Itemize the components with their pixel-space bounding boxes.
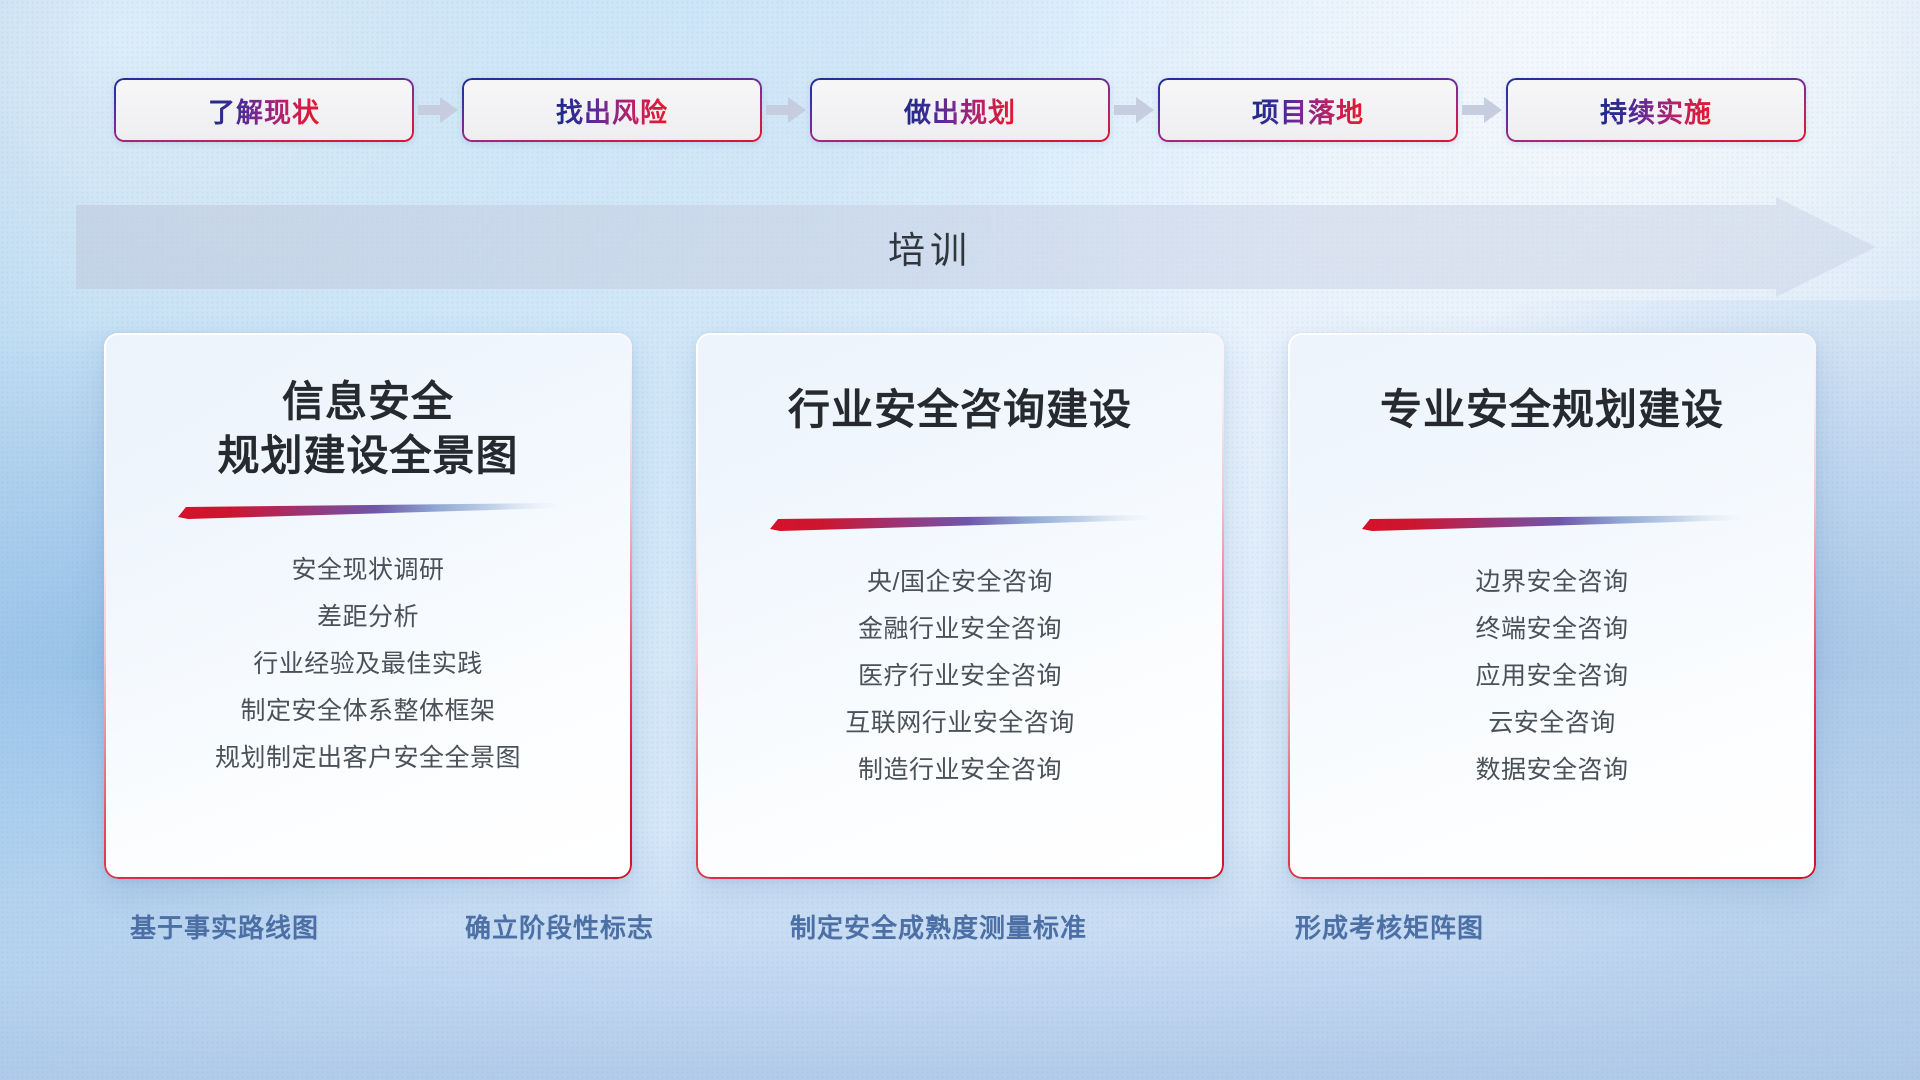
card-1-list: 安全现状调研 差距分析 行业经验及最佳实践 制定安全体系整体框架 规划制定出客户… bbox=[104, 547, 632, 782]
step-label-5: 持续实施 bbox=[1600, 91, 1712, 130]
step-button-3[interactable]: 做出规划 bbox=[810, 78, 1110, 142]
process-steps: 了解现状 找出风险 做出规划 项目落地 持续实施 bbox=[0, 76, 1920, 144]
card-2-divider bbox=[770, 515, 1150, 531]
card-2[interactable]: 行业安全咨询建设 bbox=[696, 333, 1224, 879]
arrow-right-icon-3 bbox=[1110, 78, 1158, 142]
list-item: 互联网行业安全咨询 bbox=[845, 700, 1075, 747]
arrow-right-icon-2 bbox=[762, 78, 810, 142]
card-2-content: 行业安全咨询建设 bbox=[696, 333, 1224, 879]
card-1[interactable]: 信息安全 规划建设全景图 bbox=[104, 333, 632, 879]
bottom-labels: 基于事实路线图 确立阶段性标志 制定安全成熟度测量标准 形成考核矩阵图 bbox=[0, 908, 1920, 956]
card-2-title-line-1: 行业安全咨询建设 bbox=[696, 383, 1224, 437]
list-item: 规划制定出客户安全全景图 bbox=[215, 735, 521, 782]
list-item: 应用安全咨询 bbox=[1475, 653, 1628, 700]
step-wrapper-1: 了解现状 bbox=[114, 78, 414, 142]
step-label-2: 找出风险 bbox=[556, 91, 668, 130]
list-item: 制定安全体系整体框架 bbox=[240, 688, 495, 735]
arrow-right-icon-4 bbox=[1458, 78, 1506, 142]
cards-row: 信息安全 规划建设全景图 bbox=[0, 333, 1920, 879]
card-3-content: 专业安全规划建设 bbox=[1288, 333, 1816, 879]
step-wrapper-3: 做出规划 bbox=[810, 78, 1110, 142]
list-item: 制造行业安全咨询 bbox=[858, 747, 1062, 794]
step-label-4: 项目落地 bbox=[1252, 91, 1364, 130]
step-wrapper-2: 找出风险 bbox=[462, 78, 762, 142]
bottom-label-1: 基于事实路线图 bbox=[130, 908, 319, 945]
list-item: 云安全咨询 bbox=[1488, 700, 1616, 747]
step-wrapper-4: 项目落地 bbox=[1158, 78, 1458, 142]
step-wrapper-5: 持续实施 bbox=[1506, 78, 1806, 142]
step-button-4[interactable]: 项目落地 bbox=[1158, 78, 1458, 142]
step-button-1[interactable]: 了解现状 bbox=[114, 78, 414, 142]
card-2-list: 央/国企安全咨询 金融行业安全咨询 医疗行业安全咨询 互联网行业安全咨询 制造行… bbox=[696, 559, 1224, 794]
list-item: 安全现状调研 bbox=[291, 547, 444, 594]
list-item: 医疗行业安全咨询 bbox=[858, 653, 1062, 700]
card-3-title-line-1: 专业安全规划建设 bbox=[1288, 383, 1816, 437]
bottom-label-2: 确立阶段性标志 bbox=[465, 908, 654, 945]
step-label-1: 了解现状 bbox=[208, 91, 320, 130]
card-1-title-line-2: 规划建设全景图 bbox=[104, 429, 632, 483]
card-1-content: 信息安全 规划建设全景图 bbox=[104, 333, 632, 879]
bottom-label-4: 形成考核矩阵图 bbox=[1295, 908, 1484, 945]
list-item: 数据安全咨询 bbox=[1475, 747, 1628, 794]
bottom-label-3: 制定安全成熟度测量标准 bbox=[790, 908, 1087, 945]
step-button-5[interactable]: 持续实施 bbox=[1506, 78, 1806, 142]
card-3-list: 边界安全咨询 终端安全咨询 应用安全咨询 云安全咨询 数据安全咨询 bbox=[1288, 559, 1816, 794]
card-1-divider bbox=[178, 503, 558, 519]
card-3-divider bbox=[1362, 515, 1742, 531]
card-2-title: 行业安全咨询建设 bbox=[696, 383, 1224, 437]
arrow-right-icon-1 bbox=[414, 78, 462, 142]
list-item: 终端安全咨询 bbox=[1475, 606, 1628, 653]
list-item: 央/国企安全咨询 bbox=[867, 559, 1053, 606]
banner-title: 培训 bbox=[0, 197, 1920, 297]
card-1-title: 信息安全 规划建设全景图 bbox=[104, 375, 632, 483]
step-label-3: 做出规划 bbox=[904, 91, 1016, 130]
list-item: 差距分析 bbox=[317, 594, 419, 641]
step-button-2[interactable]: 找出风险 bbox=[462, 78, 762, 142]
card-1-title-line-1: 信息安全 bbox=[104, 375, 632, 429]
list-item: 行业经验及最佳实践 bbox=[253, 641, 483, 688]
list-item: 金融行业安全咨询 bbox=[858, 606, 1062, 653]
card-3[interactable]: 专业安全规划建设 bbox=[1288, 333, 1816, 879]
card-3-title: 专业安全规划建设 bbox=[1288, 383, 1816, 437]
training-banner: 培训 bbox=[0, 197, 1920, 297]
list-item: 边界安全咨询 bbox=[1475, 559, 1628, 606]
